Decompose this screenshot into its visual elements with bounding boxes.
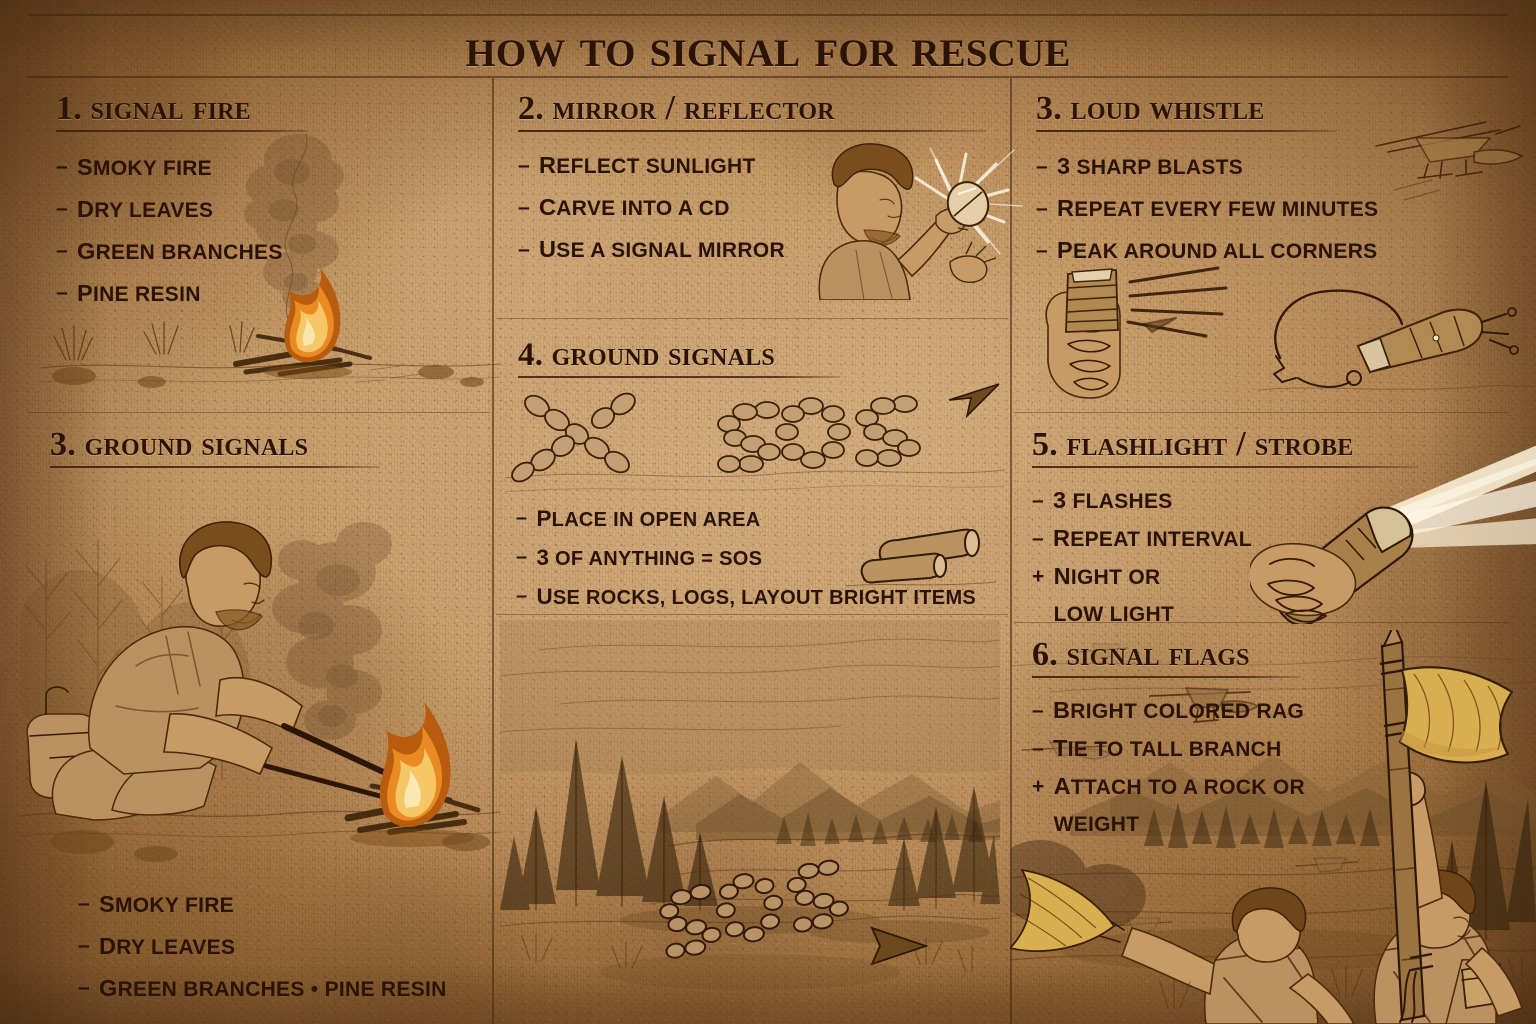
bullet-list: –3 Flashes –Repeat Interval +Night or Lo…	[1032, 482, 1422, 633]
bullet-marker: –	[518, 187, 530, 228]
bullet-text: Repeat Every Few Minutes	[1057, 188, 1406, 230]
heading-underline	[1032, 466, 1418, 468]
section-number: 4.	[518, 337, 543, 373]
bullet-marker: –	[1036, 188, 1048, 229]
bullet-text: Carve into a CD	[539, 187, 918, 229]
heading-underline	[50, 466, 380, 468]
bullet-marker: –	[518, 145, 530, 186]
list-item: +Attach to a Rock or Weight	[1032, 768, 1422, 843]
bullet-marker: –	[1032, 730, 1044, 767]
bullet-text: 3 Sharp Blasts	[1057, 146, 1406, 188]
bullet-marker: –	[56, 273, 68, 313]
list-item: –Dry Leaves	[78, 926, 498, 968]
section-heading: 3. Loud Whistle	[1036, 88, 1406, 128]
list-item: –Reflect Sunlight	[518, 145, 918, 187]
list-item: –3 Sharp Blasts	[1036, 146, 1406, 188]
bullet-text: Pine Resin	[77, 273, 326, 315]
section-number: 1.	[56, 90, 82, 127]
list-item: –3 of anything = SOS	[516, 539, 1006, 578]
list-item: –Green Branches	[56, 231, 326, 273]
list-item: –Pine Resin	[56, 273, 326, 315]
bullet-text: Reflect Sunlight	[539, 145, 918, 187]
section-signal-flags: 6. Signal Flags –Bright Colored Rag –Tie…	[1032, 634, 1422, 843]
list-item: +Night or Low Light	[1032, 558, 1422, 633]
list-item: –Smoky Fire	[56, 147, 326, 189]
section-heading: 2. Mirror / Reflector	[518, 88, 918, 128]
heading-underline	[518, 376, 840, 378]
section-number: 3.	[1036, 90, 1062, 127]
list-item: –Use a Signal Mirror	[518, 229, 918, 271]
bullet-marker: –	[1036, 146, 1048, 187]
list-item: –Smoky Fire	[78, 884, 498, 926]
list-item: –Place in open area	[516, 500, 1006, 539]
bullet-text: Green Branches • Pine Resin	[99, 968, 498, 1010]
section-heading: 1. Signal Fire	[56, 88, 326, 128]
bullet-marker: –	[78, 926, 90, 966]
bullet-text: Peak Around All Corners	[1057, 230, 1406, 272]
section-mirror-reflector: 2. Mirror / Reflector –Reflect Sunlight …	[518, 88, 918, 271]
section-number: 2.	[518, 90, 544, 127]
bullet-text: Place in open area	[536, 500, 1006, 539]
bullet-text: Tie to Tall Branch	[1053, 730, 1422, 768]
section-ground-signals-center-heading: 4. Ground Signals	[518, 336, 858, 378]
section-number: 5.	[1032, 426, 1058, 463]
bullet-text: Attach to a Rock or Weight	[1054, 768, 1422, 843]
section-heading: 4. Ground Signals	[518, 336, 858, 374]
heading-underline	[1032, 676, 1300, 678]
section-ground-signals-left-heading: 3. Ground Signals	[50, 424, 390, 468]
bullet-text: Dry Leaves	[77, 189, 326, 231]
heading-underline	[56, 130, 308, 132]
section-title: Loud Whistle	[1071, 88, 1265, 127]
section-title: Mirror / Reflector	[553, 88, 835, 127]
section-signal-fire: 1. Signal Fire –Smoky Fire –Dry Leaves –…	[56, 88, 326, 315]
section-heading: 5. Flashlight / Strobe	[1032, 424, 1422, 464]
bullet-marker: –	[78, 884, 90, 924]
page-title: How to Signal for Rescue	[465, 16, 1070, 79]
bullet-marker: –	[56, 189, 68, 229]
bullet-text: Smoky Fire	[99, 884, 498, 926]
bullet-marker: –	[1032, 482, 1044, 519]
section-loud-whistle: 3. Loud Whistle –3 Sharp Blasts –Repeat …	[1036, 88, 1406, 272]
list-item: –3 Flashes	[1032, 482, 1422, 520]
list-item: –Dry Leaves	[56, 189, 326, 231]
bullet-text: 3 of anything = SOS	[536, 539, 1006, 578]
section-ground-signals-left-bullets: –Smoky Fire –Dry Leaves –Green Branches …	[78, 884, 498, 1010]
bullet-marker: –	[56, 147, 68, 187]
page-title-block: How to Signal for Rescue	[0, 16, 1536, 79]
bullet-list: –Bright Colored Rag –Tie to Tall Branch …	[1032, 692, 1422, 843]
section-title: Ground Signals	[85, 424, 309, 463]
bullet-marker: –	[1032, 692, 1044, 729]
section-number: 6.	[1032, 636, 1058, 673]
bullet-marker: –	[516, 578, 527, 615]
bullet-marker: –	[1032, 520, 1044, 557]
bullet-text: Bright Colored Rag	[1053, 692, 1422, 730]
bullet-text: Green Branches	[77, 231, 326, 273]
bullet-list: –Place in open area –3 of anything = SOS…	[516, 500, 1006, 617]
bullet-marker: –	[518, 229, 530, 270]
bullet-marker: –	[516, 539, 527, 576]
section-title: Flashlight / Strobe	[1067, 424, 1354, 463]
bullet-marker: –	[78, 968, 90, 1008]
section-title: Signal Fire	[91, 88, 251, 127]
bullet-marker: +	[1032, 558, 1045, 595]
heading-underline	[518, 130, 986, 132]
bullet-marker: –	[56, 231, 68, 271]
bullet-text: Night or Low Light	[1054, 558, 1422, 633]
bullet-text: Use rocks, logs, layout bright items	[536, 578, 1006, 617]
bullet-text: Repeat Interval	[1053, 520, 1422, 558]
bullet-text: 3 Flashes	[1053, 482, 1422, 520]
section-number: 3.	[50, 426, 76, 463]
list-item: –Carve into a CD	[518, 187, 918, 229]
list-item: –Green Branches • Pine Resin	[78, 968, 498, 1010]
list-item: –Use rocks, logs, layout bright items	[516, 578, 1006, 617]
bullet-text: Smoky Fire	[77, 147, 326, 189]
bullet-text: Use a Signal Mirror	[539, 229, 918, 271]
list-item: –Peak Around All Corners	[1036, 230, 1406, 272]
section-heading: 3. Ground Signals	[50, 424, 390, 464]
list-item: –Bright Colored Rag	[1032, 692, 1422, 730]
page-title-text: How to Signal for Rescue	[465, 17, 1070, 78]
bullet-list: –Smoky Fire –Dry Leaves –Green Branches …	[56, 147, 326, 315]
list-item: –Repeat Every Few Minutes	[1036, 188, 1406, 230]
section-ground-signals-center-bullets: –Place in open area –3 of anything = SOS…	[516, 500, 1006, 617]
section-title: Ground Signals	[552, 336, 775, 373]
bullet-list: –3 Sharp Blasts –Repeat Every Few Minute…	[1036, 146, 1406, 272]
list-item: –Repeat Interval	[1032, 520, 1422, 558]
section-heading: 6. Signal Flags	[1032, 634, 1422, 674]
bullet-marker: –	[516, 500, 527, 537]
section-flashlight-strobe: 5. Flashlight / Strobe –3 Flashes –Repea…	[1032, 424, 1422, 633]
bullet-marker: +	[1032, 768, 1045, 805]
bullet-text: Dry Leaves	[99, 926, 498, 968]
heading-underline	[1036, 130, 1336, 132]
bullet-marker: –	[1036, 230, 1048, 271]
section-title: Signal Flags	[1067, 634, 1250, 673]
bullet-list: –Smoky Fire –Dry Leaves –Green Branches …	[78, 884, 498, 1010]
survival-poster: How to Signal for Rescue 1. Signal Fire …	[0, 0, 1536, 1024]
bullet-list: –Reflect Sunlight –Carve into a CD –Use …	[518, 145, 918, 271]
list-item: –Tie to Tall Branch	[1032, 730, 1422, 768]
